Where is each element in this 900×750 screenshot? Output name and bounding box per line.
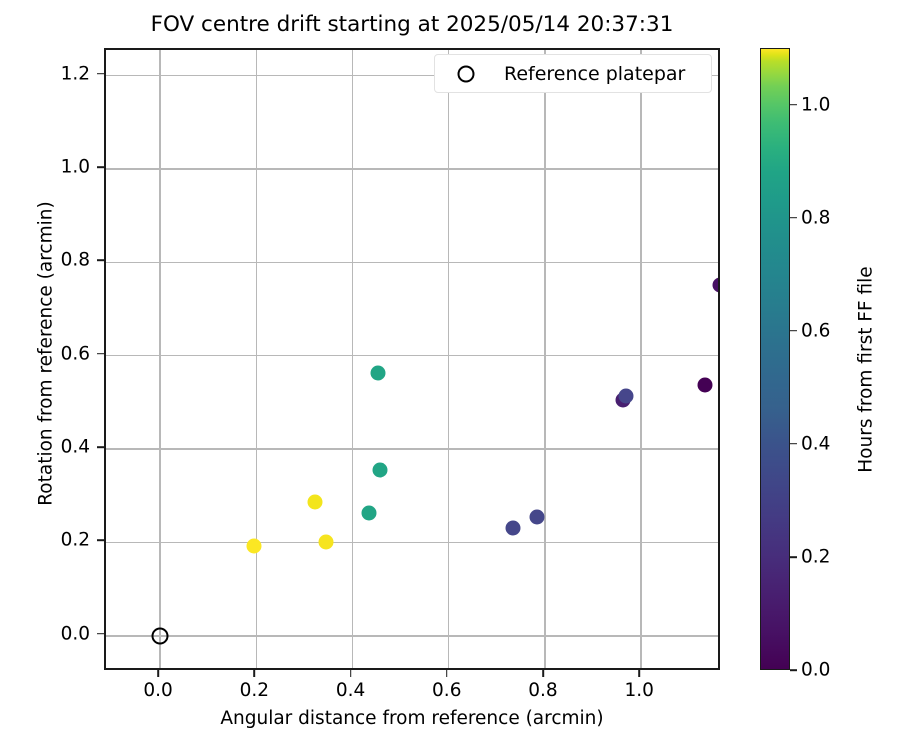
x-axis-tick-label: 0.2 <box>240 680 269 701</box>
colorbar <box>760 48 790 670</box>
y-axis-tick <box>97 166 104 168</box>
data-point <box>362 506 377 521</box>
y-axis-tick-label: 0.0 <box>61 623 90 644</box>
gridline-horizontal <box>106 355 718 356</box>
colorbar-tick-label: 0.4 <box>801 433 830 454</box>
colorbar-tick <box>790 217 797 219</box>
colorbar-tick-label: 0.2 <box>801 546 830 567</box>
gridline-horizontal <box>106 262 718 263</box>
data-point <box>370 366 385 381</box>
x-axis-tick-label: 1.0 <box>624 680 653 701</box>
gridline-vertical <box>448 50 449 668</box>
gridline-vertical <box>640 50 641 668</box>
gridline-horizontal <box>106 635 718 636</box>
plot-inner <box>106 50 718 668</box>
colorbar-tick <box>790 556 797 558</box>
data-point <box>697 378 712 393</box>
y-axis-tick <box>97 540 104 542</box>
colorbar-tick-label: 0.8 <box>801 207 830 228</box>
colorbar-tick-label: 0.6 <box>801 320 830 341</box>
colorbar-tick <box>790 443 797 445</box>
page-title: FOV centre drift starting at 2025/05/14 … <box>104 12 720 38</box>
x-axis-tick-label: 0.4 <box>336 680 365 701</box>
reference-platepar <box>152 627 169 644</box>
x-axis-tick-label: 0.0 <box>143 680 172 701</box>
legend: Reference platepar <box>434 54 712 93</box>
x-axis-label: Angular distance from reference (arcmin) <box>104 708 720 729</box>
y-axis-tick-label: 1.2 <box>61 63 90 84</box>
data-point <box>308 495 323 510</box>
data-point <box>319 534 334 549</box>
y-axis-tick-label: 1.0 <box>61 157 90 178</box>
plot-area <box>104 48 720 670</box>
colorbar-tick <box>790 104 797 106</box>
y-axis-tick-label: 0.8 <box>61 250 90 271</box>
x-axis-tick <box>350 670 352 677</box>
reference-platepar-legend-icon <box>458 65 475 82</box>
x-axis-tick-label: 0.6 <box>432 680 461 701</box>
data-point <box>618 388 633 403</box>
clipped-edge-point <box>713 277 718 292</box>
colorbar-tick-label: 0.0 <box>801 660 830 681</box>
y-axis-tick-label: 0.6 <box>61 343 90 364</box>
x-axis-tick <box>638 670 640 677</box>
y-axis-tick <box>97 73 104 75</box>
y-axis-tick-label: 0.4 <box>61 437 90 458</box>
data-point <box>373 462 388 477</box>
data-point <box>529 510 544 525</box>
x-axis-tick <box>446 670 448 677</box>
figure-canvas: FOV centre drift starting at 2025/05/14 … <box>0 0 900 750</box>
x-axis-tick <box>542 670 544 677</box>
gridline-horizontal <box>106 448 718 449</box>
colorbar-tick <box>790 330 797 332</box>
y-axis-tick <box>97 633 104 635</box>
data-point <box>505 521 520 536</box>
x-axis-tick <box>254 670 256 677</box>
gridline-vertical <box>159 50 160 668</box>
gridline-horizontal <box>106 168 718 169</box>
data-point <box>246 538 261 553</box>
y-axis-tick <box>97 260 104 262</box>
y-axis-tick-label: 0.2 <box>61 530 90 551</box>
gridline-vertical <box>352 50 353 668</box>
legend-item-label: Reference platepar <box>504 63 685 85</box>
gridline-horizontal <box>106 542 718 543</box>
x-axis-tick-label: 0.8 <box>528 680 557 701</box>
gridline-vertical <box>256 50 257 668</box>
y-axis-tick <box>97 446 104 448</box>
colorbar-tick-label: 1.0 <box>801 94 830 115</box>
colorbar-tick <box>790 669 797 671</box>
y-axis-label: Rotation from reference (arcmin) <box>36 43 57 665</box>
y-axis-tick <box>97 353 104 355</box>
x-axis-tick <box>157 670 159 677</box>
colorbar-label: Hours from first FF file <box>856 59 877 681</box>
gridline-vertical <box>544 50 545 668</box>
